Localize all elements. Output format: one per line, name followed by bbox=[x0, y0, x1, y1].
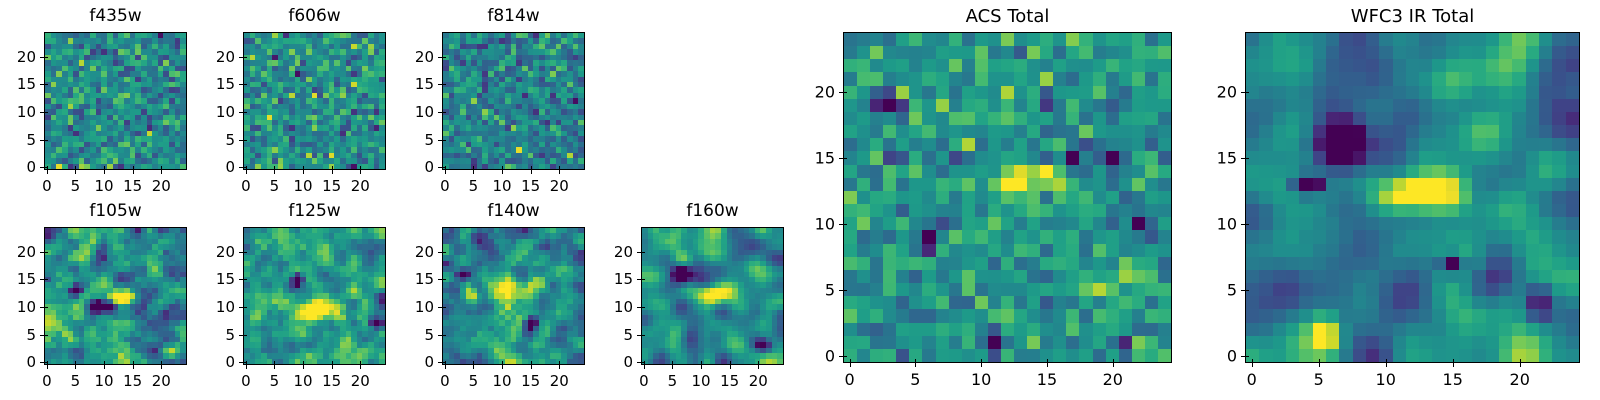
heatmap-cell bbox=[1158, 191, 1171, 204]
heatmap-cell bbox=[1158, 72, 1171, 85]
heatmap-cell bbox=[1119, 46, 1132, 59]
x-tick bbox=[473, 365, 474, 369]
heatmap-cell bbox=[1066, 46, 1079, 59]
heatmap-cell bbox=[988, 191, 1001, 204]
y-tick-label: 5 bbox=[0, 131, 36, 149]
x-tick-inner bbox=[274, 166, 275, 170]
heatmap-cell bbox=[975, 191, 988, 204]
heatmap-grid-f125w bbox=[244, 228, 385, 364]
heatmap-cell bbox=[922, 86, 935, 99]
heatmap-cell bbox=[896, 112, 909, 125]
x-tick bbox=[161, 365, 162, 369]
y-tick-label: 15 bbox=[581, 270, 633, 288]
heatmap-cell bbox=[975, 138, 988, 151]
heatmap-cell bbox=[857, 138, 870, 151]
heatmap-cell bbox=[962, 112, 975, 125]
panel-f606w: f606w0510152005101520 bbox=[183, 2, 406, 200]
heatmap-cell bbox=[1132, 191, 1145, 204]
panel-f814w: f814w0510152005101520 bbox=[382, 2, 605, 200]
heatmap-cell bbox=[1027, 86, 1040, 99]
x-tick-label: 20 bbox=[550, 372, 569, 390]
heatmap-cell bbox=[962, 138, 975, 151]
heatmap-cell bbox=[922, 125, 935, 138]
heatmap-cell bbox=[975, 217, 988, 230]
heatmap-grid-f435w bbox=[45, 33, 186, 169]
heatmap-cell bbox=[1040, 165, 1053, 178]
heatmap-cell bbox=[962, 86, 975, 99]
heatmap-cell bbox=[1119, 72, 1132, 85]
x-tick-inner bbox=[332, 166, 333, 170]
heatmap-cell bbox=[1132, 46, 1145, 59]
heatmap-cell bbox=[1106, 178, 1119, 191]
x-tick-label: 20 bbox=[550, 177, 569, 195]
x-tick-inner bbox=[758, 361, 759, 365]
heatmap-cell bbox=[1119, 204, 1132, 217]
x-tick-label: 10 bbox=[493, 372, 512, 390]
heatmap-grid-f140w bbox=[443, 228, 584, 364]
heatmap-cell bbox=[1066, 112, 1079, 125]
heatmap-cell bbox=[962, 46, 975, 59]
heatmap-cell bbox=[962, 72, 975, 85]
heatmap-cell bbox=[1040, 125, 1053, 138]
heatmap-cell bbox=[1093, 46, 1106, 59]
heatmap-cell bbox=[1093, 151, 1106, 164]
heatmap-cell bbox=[975, 151, 988, 164]
heatmap-cell bbox=[988, 59, 1001, 72]
y-tick-inner bbox=[641, 279, 645, 280]
heatmap-cell bbox=[883, 217, 896, 230]
y-tick-label: 20 bbox=[183, 243, 235, 261]
heatmap-cell bbox=[1158, 178, 1171, 191]
heatmap-cell bbox=[975, 178, 988, 191]
y-tick-inner bbox=[243, 307, 247, 308]
heatmap-cell bbox=[949, 165, 962, 178]
heatmap-cell bbox=[962, 165, 975, 178]
heatmap-axes-f606w bbox=[243, 32, 386, 170]
heatmap-cell bbox=[1158, 99, 1171, 112]
x-tick-inner bbox=[332, 361, 333, 365]
x-tick-label: 15 bbox=[720, 372, 739, 390]
x-tick-inner bbox=[133, 166, 134, 170]
heatmap-cell bbox=[1132, 217, 1145, 230]
heatmap-cell bbox=[1119, 217, 1132, 230]
heatmap-cell bbox=[857, 204, 870, 217]
heatmap-cell bbox=[1106, 138, 1119, 151]
heatmap-cell bbox=[1001, 138, 1014, 151]
heatmap-cell bbox=[870, 204, 883, 217]
heatmap-cell bbox=[962, 125, 975, 138]
heatmap-cell bbox=[870, 125, 883, 138]
heatmap-cell bbox=[936, 138, 949, 151]
heatmap-cell bbox=[1001, 86, 1014, 99]
y-tick-inner bbox=[44, 279, 48, 280]
heatmap-cell bbox=[1001, 165, 1014, 178]
heatmap-cell bbox=[1079, 59, 1092, 72]
heatmap-cell bbox=[870, 165, 883, 178]
heatmap-cell bbox=[896, 46, 909, 59]
heatmap-cell bbox=[1158, 33, 1171, 46]
x-tick-label: 15 bbox=[123, 177, 142, 195]
x-tick bbox=[104, 365, 105, 369]
heatmap-cell bbox=[909, 138, 922, 151]
y-tick-label: 5 bbox=[382, 326, 434, 344]
panel-f140w: f140w0510152005101520 bbox=[382, 197, 605, 395]
y-tick-label: 0 bbox=[0, 353, 36, 371]
heatmap-cell bbox=[962, 59, 975, 72]
x-tick bbox=[75, 170, 76, 174]
heatmap-cell bbox=[975, 86, 988, 99]
x-tick bbox=[303, 170, 304, 174]
heatmap-cell bbox=[1053, 178, 1066, 191]
x-tick-label: 20 bbox=[749, 372, 768, 390]
heatmap-axes-f435w bbox=[44, 32, 187, 170]
heatmap-cell bbox=[844, 165, 857, 178]
heatmap-cell bbox=[909, 72, 922, 85]
heatmap-cell bbox=[883, 59, 896, 72]
heatmap-cell bbox=[1158, 46, 1171, 59]
heatmap-cell bbox=[909, 59, 922, 72]
x-tick-label: 20 bbox=[152, 177, 171, 195]
heatmap-cell bbox=[988, 72, 1001, 85]
heatmap-cell bbox=[1145, 46, 1158, 59]
heatmap-cell bbox=[909, 46, 922, 59]
y-tick-inner bbox=[44, 307, 48, 308]
heatmap-cell bbox=[1093, 86, 1106, 99]
heatmap-cell bbox=[1014, 151, 1027, 164]
heatmap-cell bbox=[1079, 165, 1092, 178]
x-tick-inner bbox=[559, 361, 560, 365]
heatmap-cell bbox=[896, 86, 909, 99]
x-tick-label: 15 bbox=[123, 372, 142, 390]
heatmap-cell bbox=[870, 72, 883, 85]
x-tick-inner bbox=[531, 166, 532, 170]
x-tick bbox=[445, 170, 446, 174]
heatmap-cell bbox=[1145, 151, 1158, 164]
heatmap-cell bbox=[578, 164, 584, 169]
heatmap-cell bbox=[1001, 46, 1014, 59]
x-tick-label: 10 bbox=[95, 177, 114, 195]
heatmap-cell bbox=[949, 72, 962, 85]
x-tick-label: 5 bbox=[270, 177, 280, 195]
heatmap-cell bbox=[936, 46, 949, 59]
x-tick-label: 20 bbox=[152, 372, 171, 390]
heatmap-cell bbox=[1014, 59, 1027, 72]
heatmap-cell bbox=[1079, 72, 1092, 85]
heatmap-cell bbox=[1132, 99, 1145, 112]
heatmap-cell bbox=[1040, 191, 1053, 204]
heatmap-cell bbox=[870, 217, 883, 230]
panel-f105w: f105w0510152005101520 bbox=[0, 197, 207, 395]
y-tick-inner bbox=[243, 140, 247, 141]
heatmap-cell bbox=[1066, 178, 1079, 191]
x-tick-label: 5 bbox=[71, 372, 81, 390]
y-tick-inner bbox=[243, 335, 247, 336]
heatmap-cell bbox=[1132, 151, 1145, 164]
x-tick bbox=[332, 365, 333, 369]
heatmap-cell bbox=[1132, 178, 1145, 191]
heatmap-cell bbox=[870, 99, 883, 112]
heatmap-cell bbox=[844, 178, 857, 191]
heatmap-cell bbox=[1027, 178, 1040, 191]
heatmap-cell bbox=[1145, 72, 1158, 85]
x-tick-label: 10 bbox=[692, 372, 711, 390]
x-tick-label: 15 bbox=[322, 372, 341, 390]
heatmap-cell bbox=[857, 86, 870, 99]
heatmap-cell bbox=[1093, 217, 1106, 230]
heatmap-cell bbox=[857, 178, 870, 191]
heatmap-cell bbox=[1106, 112, 1119, 125]
heatmap-cell bbox=[1158, 59, 1171, 72]
panel-title-acs_total: ACS Total bbox=[843, 6, 1172, 27]
x-tick bbox=[47, 170, 48, 174]
heatmap-cell bbox=[1027, 46, 1040, 59]
figure-canvas: f435w0510152005101520f606w05101520051015… bbox=[0, 0, 1600, 400]
heatmap-cell bbox=[870, 33, 883, 46]
y-tick-label: 10 bbox=[183, 298, 235, 316]
heatmap-cell bbox=[1132, 138, 1145, 151]
heatmap-cell bbox=[1014, 138, 1027, 151]
heatmap-cell bbox=[1053, 33, 1066, 46]
heatmap-cell bbox=[1053, 46, 1066, 59]
heatmap-cell bbox=[896, 165, 909, 178]
heatmap-cell bbox=[1040, 138, 1053, 151]
heatmap-grid-f814w bbox=[443, 33, 584, 169]
heatmap-cell bbox=[988, 125, 1001, 138]
heatmap-axes-f125w bbox=[243, 227, 386, 365]
x-tick-label: 0 bbox=[42, 372, 52, 390]
panel-title-f435w: f435w bbox=[44, 6, 187, 26]
heatmap-cell bbox=[922, 112, 935, 125]
x-tick-inner bbox=[303, 166, 304, 170]
x-tick-label: 10 bbox=[493, 177, 512, 195]
heatmap-cell bbox=[909, 191, 922, 204]
heatmap-axes-f140w bbox=[442, 227, 585, 365]
heatmap-cell bbox=[936, 59, 949, 72]
heatmap-cell bbox=[883, 112, 896, 125]
heatmap-cell bbox=[909, 99, 922, 112]
x-tick bbox=[47, 365, 48, 369]
x-tick bbox=[303, 365, 304, 369]
x-tick-inner bbox=[161, 166, 162, 170]
heatmap-cell bbox=[988, 112, 1001, 125]
heatmap-cell bbox=[1014, 46, 1027, 59]
y-tick-inner bbox=[243, 252, 247, 253]
heatmap-cell bbox=[883, 72, 896, 85]
heatmap-cell bbox=[857, 59, 870, 72]
heatmap-cell bbox=[988, 86, 1001, 99]
y-tick-label: 15 bbox=[0, 75, 36, 93]
heatmap-cell bbox=[857, 151, 870, 164]
heatmap-cell bbox=[1027, 204, 1040, 217]
heatmap-cell bbox=[988, 217, 1001, 230]
heatmap-cell bbox=[1106, 86, 1119, 99]
heatmap-cell bbox=[844, 230, 857, 243]
y-tick-label: 0 bbox=[183, 158, 235, 176]
x-tick bbox=[274, 170, 275, 174]
x-tick bbox=[531, 365, 532, 369]
heatmap-cell bbox=[1001, 217, 1014, 230]
heatmap-cell bbox=[896, 178, 909, 191]
heatmap-cell bbox=[896, 72, 909, 85]
x-tick-inner bbox=[104, 166, 105, 170]
heatmap-cell bbox=[949, 178, 962, 191]
heatmap-cell bbox=[896, 99, 909, 112]
heatmap-cell bbox=[1079, 217, 1092, 230]
heatmap-cell bbox=[1119, 33, 1132, 46]
panel-title-f814w: f814w bbox=[442, 6, 585, 26]
heatmap-cell bbox=[883, 165, 896, 178]
x-tick-inner bbox=[274, 361, 275, 365]
heatmap-cell bbox=[870, 46, 883, 59]
heatmap-cell bbox=[870, 112, 883, 125]
heatmap-cell bbox=[1027, 72, 1040, 85]
heatmap-cell bbox=[857, 72, 870, 85]
heatmap-cell bbox=[975, 72, 988, 85]
heatmap-cell bbox=[1001, 125, 1014, 138]
x-tick-label: 0 bbox=[440, 177, 450, 195]
heatmap-cell bbox=[1014, 33, 1027, 46]
heatmap-cell bbox=[922, 204, 935, 217]
heatmap-cell bbox=[949, 151, 962, 164]
heatmap-cell bbox=[949, 125, 962, 138]
panel-title-f105w: f105w bbox=[44, 201, 187, 221]
heatmap-cell bbox=[1001, 33, 1014, 46]
heatmap-cell bbox=[857, 125, 870, 138]
heatmap-cell bbox=[1066, 33, 1079, 46]
heatmap-cell bbox=[922, 151, 935, 164]
heatmap-cell bbox=[857, 230, 870, 243]
heatmap-cell bbox=[1079, 46, 1092, 59]
y-tick-inner bbox=[442, 84, 446, 85]
heatmap-cell bbox=[1079, 86, 1092, 99]
heatmap-cell bbox=[1079, 125, 1092, 138]
y-tick-inner bbox=[243, 112, 247, 113]
heatmap-cell bbox=[1053, 191, 1066, 204]
heatmap-cell bbox=[1119, 112, 1132, 125]
heatmap-cell bbox=[909, 112, 922, 125]
heatmap-cell bbox=[1106, 191, 1119, 204]
heatmap-cell bbox=[1119, 125, 1132, 138]
x-tick-label: 15 bbox=[322, 177, 341, 195]
x-tick-inner bbox=[730, 361, 731, 365]
x-tick-label: 10 bbox=[294, 177, 313, 195]
heatmap-cell bbox=[975, 204, 988, 217]
heatmap-cell bbox=[922, 191, 935, 204]
heatmap-cell bbox=[1027, 59, 1040, 72]
x-tick bbox=[502, 170, 503, 174]
x-tick bbox=[644, 365, 645, 369]
heatmap-cell bbox=[922, 217, 935, 230]
heatmap-cell bbox=[949, 191, 962, 204]
x-tick-inner bbox=[502, 361, 503, 365]
heatmap-cell bbox=[962, 204, 975, 217]
heatmap-cell bbox=[988, 151, 1001, 164]
y-tick-inner bbox=[641, 335, 645, 336]
y-tick-label: 20 bbox=[382, 48, 434, 66]
x-tick-label: 5 bbox=[71, 177, 81, 195]
y-tick-inner bbox=[243, 362, 247, 363]
y-tick-label: 0 bbox=[382, 353, 434, 371]
heatmap-cell bbox=[1053, 165, 1066, 178]
y-tick-inner bbox=[442, 279, 446, 280]
heatmap-cell bbox=[1053, 125, 1066, 138]
x-tick-label: 0 bbox=[241, 177, 251, 195]
x-tick-inner bbox=[161, 361, 162, 365]
heatmap-cell bbox=[949, 99, 962, 112]
heatmap-cell bbox=[1079, 178, 1092, 191]
heatmap-cell bbox=[909, 165, 922, 178]
y-tick-label: 15 bbox=[382, 270, 434, 288]
y-tick-label: 15 bbox=[183, 270, 235, 288]
heatmap-cell bbox=[1158, 138, 1171, 151]
heatmap-cell bbox=[883, 230, 896, 243]
heatmap-cell bbox=[896, 151, 909, 164]
x-tick bbox=[502, 365, 503, 369]
y-tick-inner bbox=[641, 362, 645, 363]
heatmap-cell bbox=[1040, 151, 1053, 164]
x-tick bbox=[274, 365, 275, 369]
heatmap-cell bbox=[922, 165, 935, 178]
panel-f125w: f125w0510152005101520 bbox=[183, 197, 406, 395]
heatmap-grid-f105w bbox=[45, 228, 186, 364]
heatmap-cell bbox=[962, 191, 975, 204]
heatmap-cell bbox=[1158, 86, 1171, 99]
heatmap-cell bbox=[1106, 125, 1119, 138]
heatmap-cell bbox=[896, 138, 909, 151]
heatmap-cell bbox=[883, 86, 896, 99]
x-tick bbox=[672, 365, 673, 369]
heatmap-cell bbox=[1014, 112, 1027, 125]
x-tick-inner bbox=[531, 361, 532, 365]
heatmap-cell bbox=[896, 59, 909, 72]
heatmap-cell bbox=[1053, 86, 1066, 99]
heatmap-cell bbox=[1001, 99, 1014, 112]
x-tick-label: 0 bbox=[42, 177, 52, 195]
heatmap-cell bbox=[1079, 138, 1092, 151]
heatmap-cell bbox=[922, 99, 935, 112]
y-tick-label: 15 bbox=[382, 75, 434, 93]
heatmap-cell bbox=[1053, 72, 1066, 85]
x-tick-label: 5 bbox=[270, 372, 280, 390]
heatmap-cell bbox=[936, 86, 949, 99]
heatmap-cell bbox=[1079, 33, 1092, 46]
heatmap-cell bbox=[1066, 204, 1079, 217]
heatmap-cell bbox=[922, 138, 935, 151]
heatmap-cell bbox=[1066, 217, 1079, 230]
heatmap-cell bbox=[1079, 204, 1092, 217]
heatmap-cell bbox=[1040, 217, 1053, 230]
heatmap-axes-f160w bbox=[641, 227, 784, 365]
heatmap-cell bbox=[949, 217, 962, 230]
heatmap-cell bbox=[1001, 178, 1014, 191]
heatmap-cell bbox=[1079, 112, 1092, 125]
heatmap-cell bbox=[975, 112, 988, 125]
heatmap-cell bbox=[1093, 178, 1106, 191]
y-tick-label: 0 bbox=[382, 158, 434, 176]
heatmap-cell bbox=[896, 125, 909, 138]
heatmap-cell bbox=[909, 204, 922, 217]
heatmap-cell bbox=[1040, 59, 1053, 72]
y-tick-label: 10 bbox=[382, 298, 434, 316]
x-tick bbox=[559, 365, 560, 369]
y-tick-inner bbox=[442, 252, 446, 253]
heatmap-cell bbox=[936, 165, 949, 178]
y-tick-label: 10 bbox=[183, 103, 235, 121]
x-tick-label: 10 bbox=[95, 372, 114, 390]
heatmap-cell bbox=[1093, 112, 1106, 125]
heatmap-cell bbox=[870, 230, 883, 243]
heatmap-cell bbox=[1093, 165, 1106, 178]
